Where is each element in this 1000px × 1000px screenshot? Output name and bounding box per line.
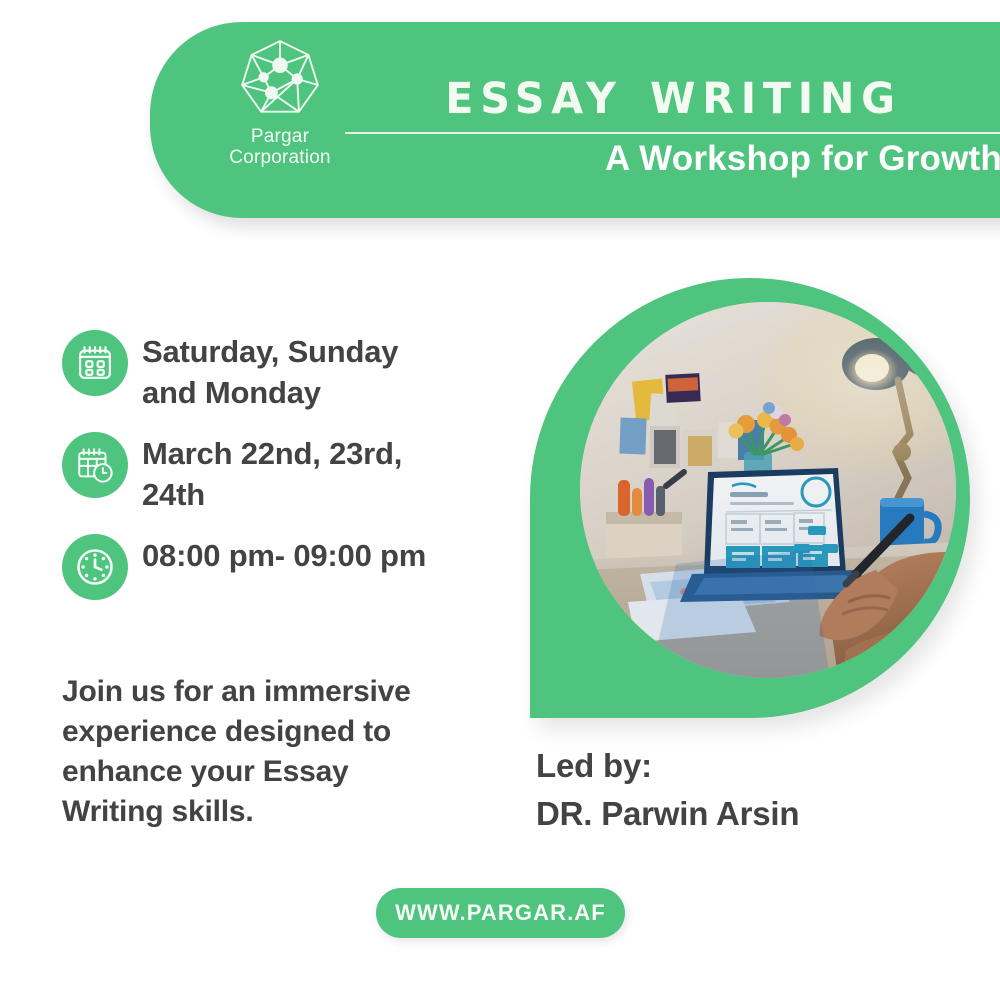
calendar-icon [62, 330, 128, 396]
list-item-label: March 22nd, 23rd, 24th [142, 432, 442, 516]
event-details-list: Saturday, Sunday and Monday [62, 330, 462, 618]
calendar-clock-icon [62, 432, 128, 498]
website-button[interactable]: WWW.PARGAR.AF [376, 888, 625, 938]
brand-logo: Pargar Corporation [200, 36, 360, 169]
description-text: Join us for an immersive experience desi… [62, 672, 452, 832]
list-item: March 22nd, 23rd, 24th [62, 432, 462, 516]
network-heptagon-logo-icon [237, 36, 323, 122]
brand-name: Pargar Corporation [229, 126, 330, 169]
list-item: 08:00 pm- 09:00 pm [62, 534, 462, 600]
poster: Pargar Corporation Essay Writing A Works… [0, 0, 1000, 1000]
presenter-block: Led by: DR. Parwin Arsin [536, 742, 799, 838]
workshop-photo-illustration [580, 302, 956, 678]
header-banner: Pargar Corporation Essay Writing A Works… [150, 22, 1000, 218]
list-item-label: Saturday, Sunday and Monday [142, 330, 442, 414]
list-item-label: 08:00 pm- 09:00 pm [142, 534, 426, 577]
list-item: Saturday, Sunday and Monday [62, 330, 462, 414]
presenter-label: Led by: [536, 742, 799, 790]
title-divider [345, 132, 1000, 134]
clock-icon [62, 534, 128, 600]
presenter-name: DR. Parwin Arsin [536, 790, 799, 838]
title-block: Essay Writing A Workshop for Growth [345, 32, 1000, 208]
page-title: Essay Writing [358, 61, 989, 123]
page-subtitle: A Workshop for Growth [345, 140, 1000, 179]
brand-name-line-1: Pargar [251, 126, 309, 147]
brand-name-line-2: Corporation [229, 147, 330, 168]
photo-blob [530, 278, 970, 718]
workshop-photo [580, 302, 956, 678]
